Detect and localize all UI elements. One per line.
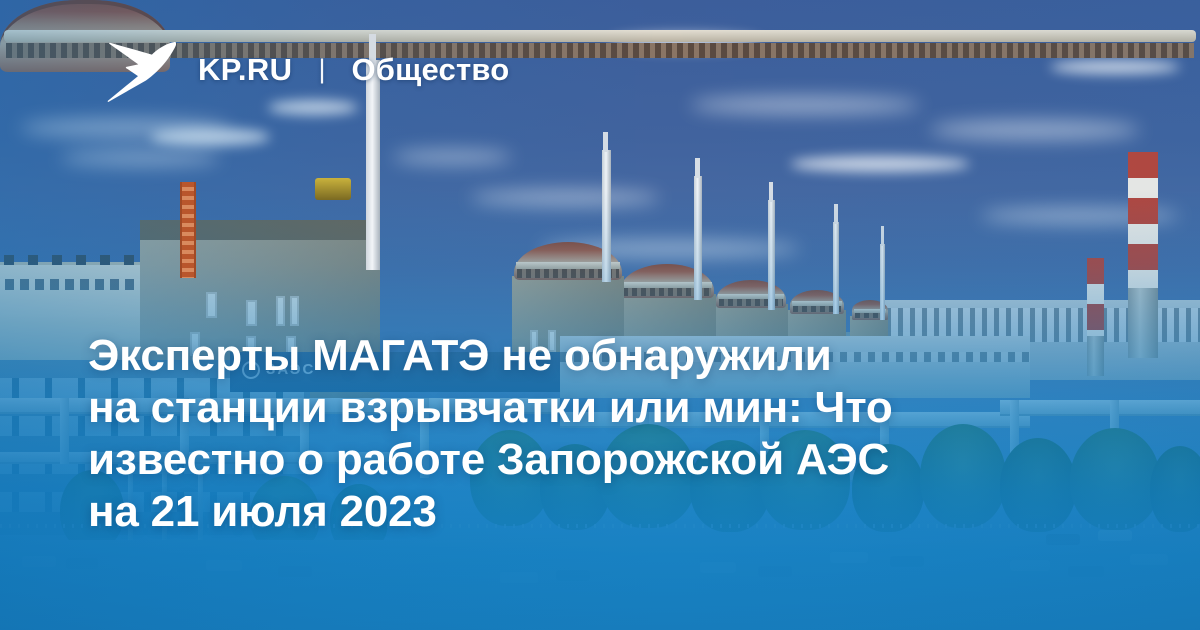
headline-line-3: известно о работе Запорожской АЭС (88, 434, 988, 486)
dome-crane-cab (315, 178, 351, 200)
brand-name[interactable]: KP.RU (198, 54, 292, 85)
brand-header: KP.RU | Общество (104, 36, 509, 102)
social-share-card: ЗАЭС (0, 0, 1200, 630)
headline-line-2: на станции взрывчатки или мин: Что (88, 382, 988, 434)
headline: Эксперты МАГАТЭ не обнаружили на станции… (88, 330, 988, 538)
header-separator: | (318, 56, 325, 83)
headline-line-4: на 21 июля 2023 (88, 486, 988, 538)
kp-swallow-logo-icon[interactable] (104, 36, 176, 102)
headline-line-1: Эксперты МАГАТЭ не обнаружили (88, 330, 988, 382)
construction-crane (180, 182, 196, 278)
rubric-label[interactable]: Общество (351, 54, 509, 85)
